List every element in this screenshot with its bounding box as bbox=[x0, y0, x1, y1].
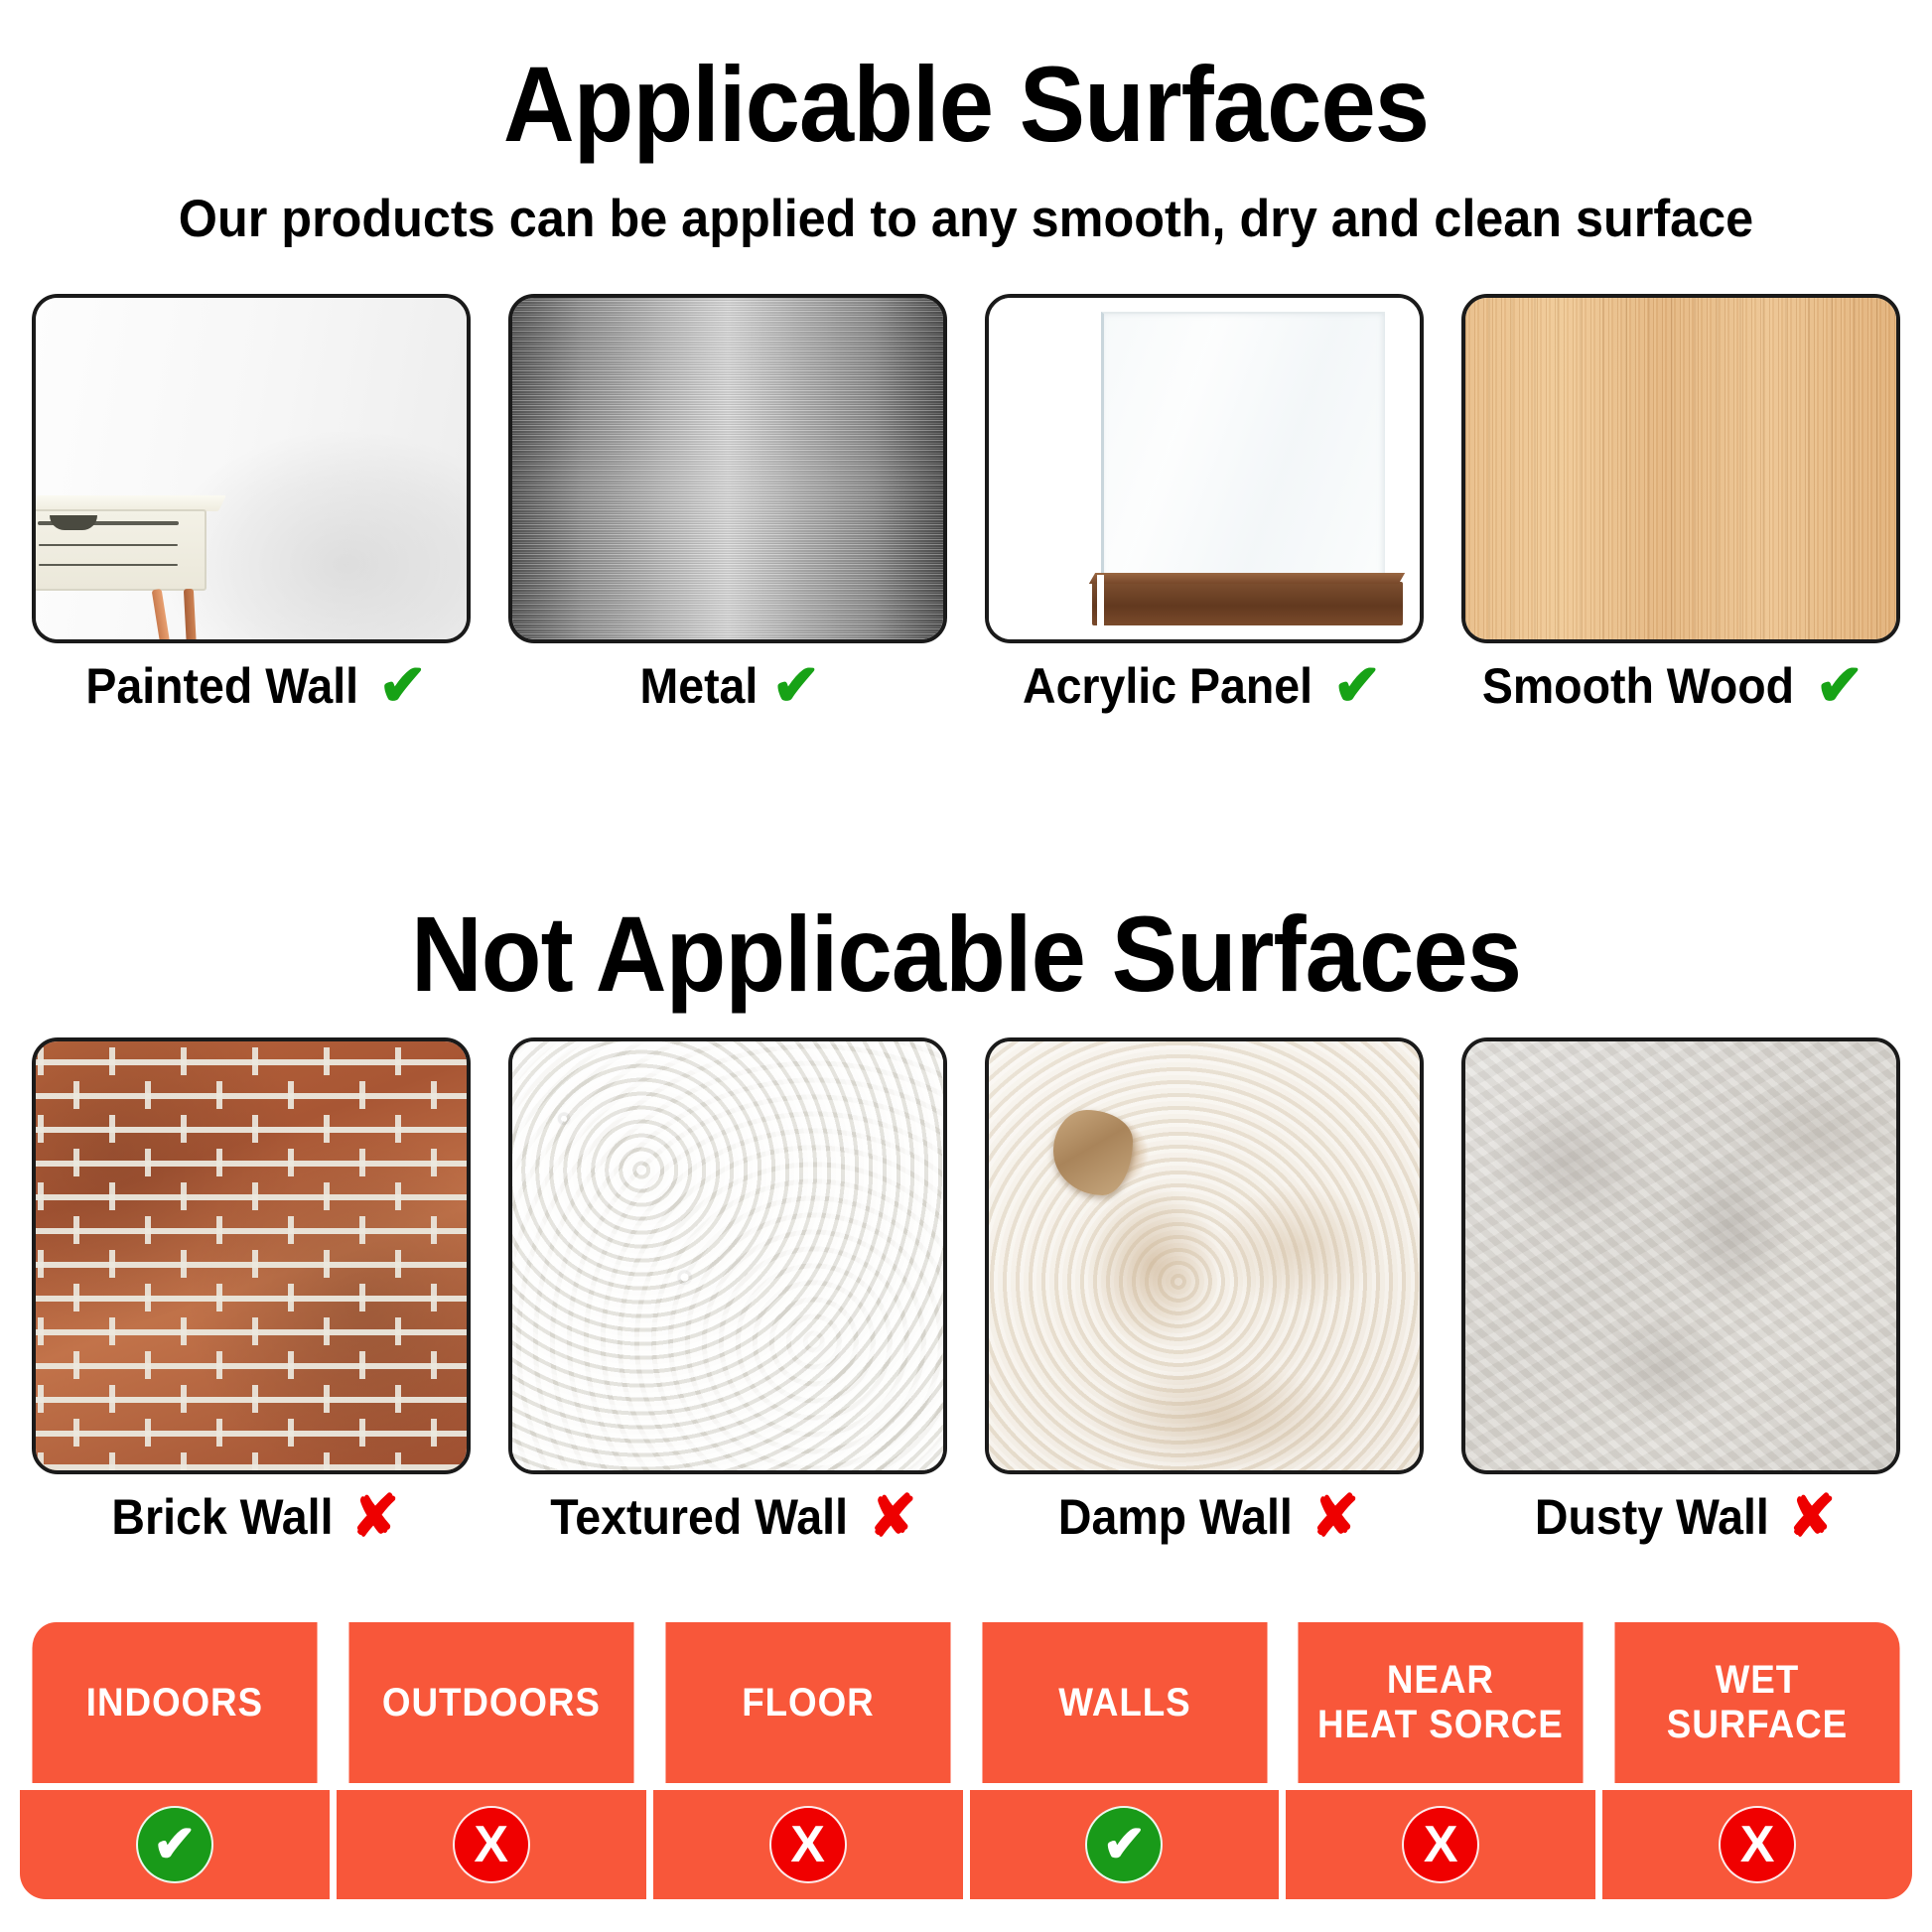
matrix-header-indoors: INDOORS bbox=[32, 1622, 317, 1783]
brushed-metal-texture bbox=[512, 298, 943, 639]
caption-label: Smooth Wood bbox=[1482, 657, 1794, 715]
tile-brick-wall: Brick Wall ✘ bbox=[32, 1037, 471, 1546]
not-applicable-title: Not Applicable Surfaces bbox=[77, 892, 1855, 1016]
cross-badge-icon: X bbox=[769, 1806, 847, 1883]
caption-acrylic-panel: Acrylic Panel ✔ bbox=[977, 657, 1416, 715]
cross-icon: ✘ bbox=[351, 1488, 400, 1546]
brick-wall-texture bbox=[36, 1041, 467, 1470]
matrix-header-label: NEARHEAT SORCE bbox=[1317, 1658, 1564, 1747]
matrix-header-label: OUTDOORS bbox=[382, 1681, 601, 1725]
infographic-page: Applicable Surfaces Our products can be … bbox=[0, 0, 1932, 1932]
tile-image-textured-wall bbox=[508, 1037, 947, 1474]
caption-brick-wall: Brick Wall ✘ bbox=[32, 1488, 471, 1546]
table-leg-icon bbox=[152, 589, 181, 643]
cross-badge-icon: X bbox=[1402, 1806, 1479, 1883]
matrix-status-outdoors: X bbox=[337, 1790, 646, 1899]
peeling-paint-patch bbox=[1053, 1110, 1133, 1195]
matrix-header-label: INDOORS bbox=[86, 1681, 263, 1725]
tile-metal: Metal ✔ bbox=[508, 294, 947, 715]
wooden-base bbox=[1092, 582, 1402, 626]
textured-wall-texture bbox=[512, 1041, 943, 1470]
tile-image-damp-wall bbox=[985, 1037, 1424, 1474]
matrix-status-floor: X bbox=[653, 1790, 963, 1899]
applicable-title: Applicable Surfaces bbox=[77, 42, 1855, 166]
caption-dusty-wall: Dusty Wall ✘ bbox=[1461, 1488, 1900, 1546]
matrix-header-floor: FLOOR bbox=[665, 1622, 950, 1783]
check-icon: ✔ bbox=[1816, 657, 1864, 715]
matrix-header-wet: WETSURFACE bbox=[1615, 1622, 1900, 1783]
matrix-header-near: NEARHEAT SORCE bbox=[1299, 1622, 1584, 1783]
matrix-status-wet: X bbox=[1602, 1790, 1912, 1899]
cross-badge-icon: X bbox=[453, 1806, 530, 1883]
matrix-header-label: WALLS bbox=[1058, 1681, 1190, 1725]
caption-label: Damp Wall bbox=[1058, 1488, 1293, 1546]
matrix-header-outdoors: OUTDOORS bbox=[348, 1622, 633, 1783]
tile-acrylic-panel: Acrylic Panel ✔ bbox=[985, 294, 1424, 715]
matrix-header-label: FLOOR bbox=[742, 1681, 874, 1725]
dusty-wall-texture bbox=[1465, 1041, 1896, 1470]
tile-dusty-wall: Dusty Wall ✘ bbox=[1461, 1037, 1900, 1546]
caption-painted-wall: Painted Wall ✔ bbox=[32, 657, 471, 715]
cross-icon: ✘ bbox=[1788, 1488, 1837, 1546]
tile-smooth-wood: Smooth Wood ✔ bbox=[1461, 294, 1900, 715]
tile-image-painted-wall bbox=[32, 294, 471, 643]
matrix-status-walls: ✔ bbox=[970, 1790, 1280, 1899]
matrix-status-indoors: ✔ bbox=[20, 1790, 330, 1899]
check-icon: ✔ bbox=[772, 657, 821, 715]
table-leg-icon bbox=[184, 589, 200, 643]
tile-image-brick-wall bbox=[32, 1037, 471, 1474]
caption-label: Metal bbox=[639, 657, 758, 715]
caption-label: Brick Wall bbox=[111, 1488, 333, 1546]
console-table-icon bbox=[32, 509, 207, 591]
caption-textured-wall: Textured Wall ✘ bbox=[508, 1488, 947, 1546]
matrix-status-near: X bbox=[1286, 1790, 1595, 1899]
usage-matrix: INDOORSOUTDOORSFLOORWALLSNEARHEAT SORCEW… bbox=[20, 1622, 1912, 1892]
tile-image-dusty-wall bbox=[1461, 1037, 1900, 1474]
check-icon: ✔ bbox=[378, 657, 427, 715]
cross-badge-icon: X bbox=[1719, 1806, 1796, 1883]
tile-image-metal bbox=[508, 294, 947, 643]
caption-smooth-wood: Smooth Wood ✔ bbox=[1448, 657, 1886, 715]
caption-label: Acrylic Panel bbox=[1023, 657, 1312, 715]
caption-label: Dusty Wall bbox=[1535, 1488, 1769, 1546]
matrix-header-label: WETSURFACE bbox=[1667, 1658, 1848, 1747]
applicable-tile-row: Painted Wall ✔ Metal ✔ Acrylic bbox=[0, 294, 1932, 715]
tile-painted-wall: Painted Wall ✔ bbox=[32, 294, 471, 715]
caption-label: Painted Wall bbox=[85, 657, 358, 715]
matrix-header-walls: WALLS bbox=[982, 1622, 1267, 1783]
cross-icon: ✘ bbox=[1311, 1488, 1360, 1546]
acrylic-sheet bbox=[1101, 312, 1385, 585]
tile-image-smooth-wood bbox=[1461, 294, 1900, 643]
smooth-wood-texture bbox=[1465, 298, 1896, 639]
check-badge-icon: ✔ bbox=[136, 1806, 213, 1883]
check-badge-icon: ✔ bbox=[1085, 1806, 1163, 1883]
not-applicable-tile-row: Brick Wall ✘ Textured Wall ✘ Damp Wall ✘ bbox=[0, 1037, 1932, 1546]
painted-wall-texture bbox=[36, 298, 467, 639]
base-slot bbox=[1097, 575, 1104, 626]
tile-image-acrylic-panel bbox=[985, 294, 1424, 643]
caption-label: Textured Wall bbox=[550, 1488, 848, 1546]
caption-damp-wall: Damp Wall ✘ bbox=[985, 1488, 1424, 1546]
damp-wall-texture bbox=[989, 1041, 1420, 1470]
check-icon: ✔ bbox=[1333, 657, 1382, 715]
tile-textured-wall: Textured Wall ✘ bbox=[508, 1037, 947, 1546]
acrylic-panel-texture bbox=[989, 298, 1420, 639]
brick-joints bbox=[36, 1041, 467, 1470]
tile-damp-wall: Damp Wall ✘ bbox=[985, 1037, 1424, 1546]
applicable-subtitle: Our products can be applied to any smoot… bbox=[49, 189, 1884, 249]
cross-icon: ✘ bbox=[869, 1488, 917, 1546]
caption-metal: Metal ✔ bbox=[508, 657, 947, 715]
